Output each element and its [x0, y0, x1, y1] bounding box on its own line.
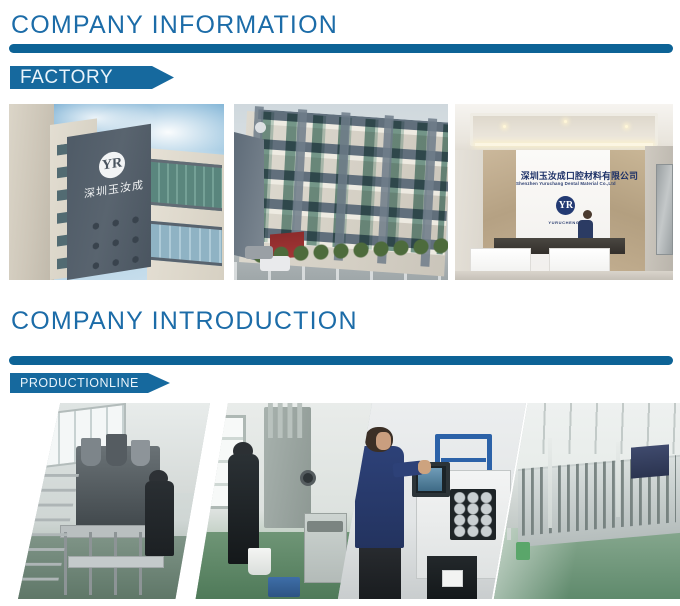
section-divider-1: [9, 44, 673, 53]
building-left-wall: [9, 104, 54, 280]
green-container: [516, 542, 529, 560]
banner-factory: FACTORY: [10, 66, 174, 89]
photo-injection-moulding-machine: [18, 403, 210, 599]
banner-productionline: PRODUCTIONLINE: [10, 373, 170, 393]
operator-legs: [359, 540, 401, 599]
factory-photo-row: YR 深圳玉汝成: [0, 104, 680, 280]
banner-factory-label: FACTORY: [10, 67, 113, 89]
page-title-company-information: COMPANY INFORMATION: [11, 11, 338, 40]
company-logo-icon: YR: [556, 196, 575, 215]
structural-column: [548, 438, 552, 528]
ceiling-cove-light: [475, 143, 654, 146]
operator-body: [355, 446, 404, 548]
receptionist-head: [583, 210, 592, 219]
press-cylinder-rods: [268, 403, 308, 438]
ceiling-coffer: [470, 113, 657, 146]
control-cabinet-panel: [307, 521, 343, 533]
reception-desk-right-panel: [549, 248, 610, 273]
ceiling-spotlight: [564, 120, 567, 123]
building-right-glass-upper: [151, 159, 222, 211]
white-bucket: [248, 548, 271, 575]
reception-signage-english: Shenzhen Yuruchang Dental Material Co.,L…: [516, 181, 612, 186]
worker-body: [145, 481, 174, 555]
company-profile-page: COMPANY INFORMATION FACTORY YR 深圳玉汝成: [0, 0, 680, 606]
lobby-stone-panel-right: [610, 150, 647, 280]
machine-warning-label: [442, 570, 463, 588]
machine-hopper: [131, 440, 150, 465]
machine-hopper: [106, 434, 127, 465]
machine-hopper: [81, 438, 100, 465]
facade-window-grid: [80, 205, 140, 274]
parked-car: [245, 246, 273, 259]
blue-crate: [268, 577, 300, 597]
production-photo-row: [0, 403, 680, 603]
press-handwheel: [300, 470, 316, 486]
photo-factory-exterior-logo-sign: YR 深圳玉汝成: [9, 104, 224, 280]
photo-office-reception-lobby: 深圳玉汝成口腔材料有限公司 Shenzhen Yuruchang Dental …: [455, 104, 673, 280]
lobby-glass-door: [656, 164, 673, 256]
cnc-keypad-buttons: [453, 492, 493, 537]
operator-face: [376, 432, 391, 450]
building-right-glass-lower: [151, 221, 222, 266]
photo-factory-building-aerial: [234, 104, 448, 280]
lobby-floor: [455, 271, 673, 280]
section-divider-2: [9, 356, 673, 365]
reception-desk-left-panel: [470, 248, 531, 273]
banner-productionline-label: PRODUCTIONLINE: [10, 376, 139, 390]
company-logo-icon: [255, 122, 266, 133]
machine-lower-shelf: [68, 556, 164, 568]
structural-column: [616, 442, 620, 516]
operator-hand: [418, 460, 431, 474]
page-title-company-introduction: COMPANY INTRODUCTION: [11, 307, 358, 336]
line-end-equipment: [631, 444, 669, 479]
